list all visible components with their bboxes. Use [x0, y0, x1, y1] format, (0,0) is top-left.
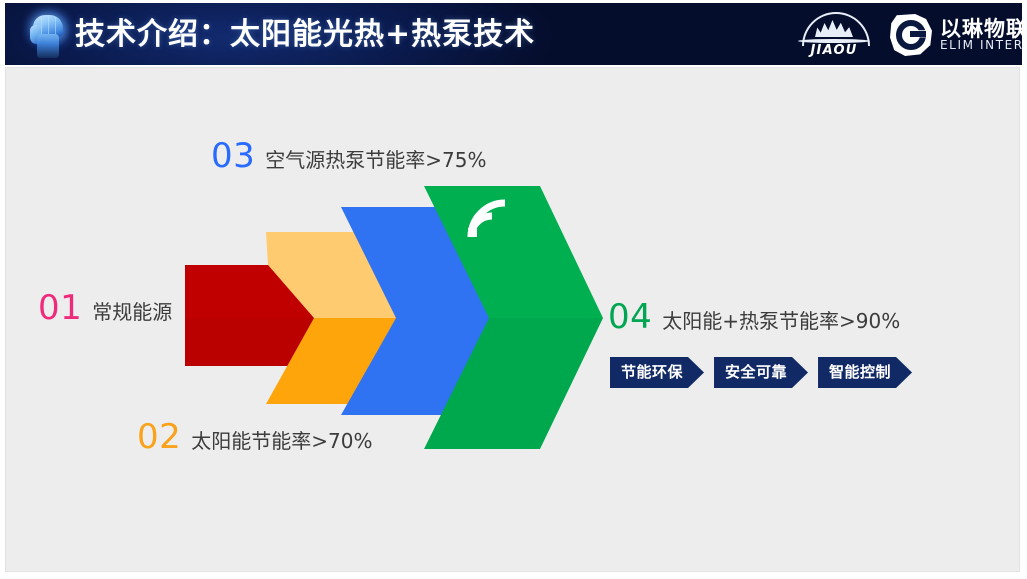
badge-safe-reliable: 安全可靠	[714, 357, 808, 388]
step-label-01: 01 常规能源	[38, 288, 172, 328]
step-label-04: 04 太阳能+热泵节能率>90%	[608, 297, 900, 337]
step-caption-02: 太阳能节能率>70%	[191, 425, 372, 454]
elim-logo-en-text: ELIM INTERNET	[940, 38, 1022, 52]
glowing-fist-icon	[19, 3, 79, 65]
step-caption-01: 常规能源	[92, 296, 172, 325]
step-number-04: 04	[608, 297, 652, 337]
badge-energy-saving: 节能环保	[610, 357, 704, 388]
step-label-03: 03 空气源热泵节能率>75%	[211, 136, 486, 176]
jiaou-logo: JIAOU	[795, 11, 873, 59]
feature-badge-group: 节能环保 安全可靠 智能控制	[610, 357, 912, 388]
slide-canvas: 技术介绍：太阳能光热+热泵技术 JIAOU 以琳物联 ELIM INTERNET	[0, 0, 1027, 579]
page-title: 技术介绍：太阳能光热+热泵技术	[75, 13, 535, 57]
jiaou-logo-text: JIAOU	[795, 43, 873, 58]
elim-logo: 以琳物联 ELIM INTERNET	[890, 12, 1020, 58]
elim-g-mark-icon	[890, 14, 932, 56]
step-number-02: 02	[137, 417, 181, 457]
step-number-01: 01	[38, 288, 82, 328]
step-caption-04: 太阳能+热泵节能率>90%	[662, 305, 900, 334]
step-caption-03: 空气源热泵节能率>75%	[265, 144, 486, 173]
step-number-03: 03	[211, 136, 255, 176]
step-label-02: 02 太阳能节能率>70%	[137, 417, 372, 457]
badge-smart-control: 智能控制	[818, 357, 912, 388]
slide-header-bar: 技术介绍：太阳能光热+热泵技术 JIAOU 以琳物联 ELIM INTERNET	[5, 3, 1022, 65]
